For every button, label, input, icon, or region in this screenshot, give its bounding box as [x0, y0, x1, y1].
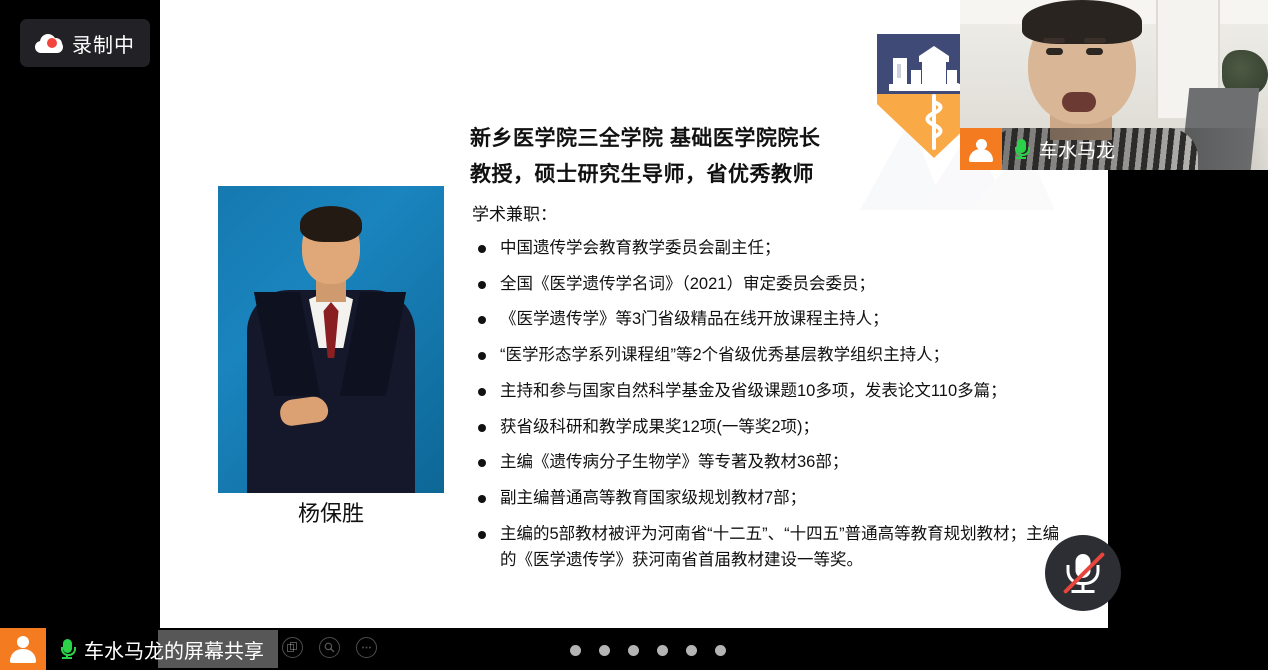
page-indicator-dots[interactable]	[570, 645, 726, 656]
participant-video-thumbnail[interactable]: 车水马龙	[960, 0, 1268, 170]
screen-share-label: 车水马龙的屏幕共享	[84, 635, 274, 664]
credential-list: 中国遗传学会教育教学委员会副主任； 全国《医学遗传学名词》（2021）审定委员会…	[470, 235, 1070, 574]
participant-name: 车水马龙	[1039, 136, 1115, 163]
slide-subheader: 学术兼职：	[472, 200, 1070, 225]
page-dot[interactable]	[628, 645, 639, 656]
cloud-record-icon	[35, 34, 63, 53]
video-name-label: 车水马龙	[960, 128, 1268, 170]
list-item: 中国遗传学会教育教学委员会副主任；	[470, 235, 1070, 262]
recording-label: 录制中	[72, 29, 135, 58]
page-dot[interactable]	[599, 645, 610, 656]
list-item: 全国《医学遗传学名词》（2021）审定委员会委员；	[470, 271, 1070, 298]
page-dot[interactable]	[570, 645, 581, 656]
more-options-icon[interactable]	[356, 637, 377, 658]
list-item: 获省级科研和教学成果奖12项(一等奖2项)；	[470, 414, 1070, 441]
list-item: “医学形态学系列课程组”等2个省级优秀基层教学组织主持人；	[470, 342, 1070, 369]
portrait-photo	[218, 186, 444, 493]
person-name-caption: 杨保胜	[218, 496, 444, 528]
list-item: 主持和参与国家自然科学基金及省级课题10多项，发表论文110多篇；	[470, 378, 1070, 405]
slide-text-column: 新乡医学院三全学院 基础医学院院长 教授，硕士研究生导师，省优秀教师 学术兼职：…	[470, 128, 1070, 583]
page-dot[interactable]	[715, 645, 726, 656]
list-item: 主编的5部教材被评为河南省“十二五”、“十四五”普通高等教育规划教材；主编的《医…	[470, 521, 1070, 574]
screen-share-indicator[interactable]: 车水马龙的屏幕共享	[0, 628, 274, 670]
page-dot[interactable]	[657, 645, 668, 656]
magnifier-glyph	[324, 642, 335, 653]
zoom-magnifier-icon[interactable]	[319, 637, 340, 658]
more-dots-glyph	[361, 642, 372, 653]
avatar-icon	[960, 128, 1002, 170]
microphone-active-icon	[60, 639, 75, 659]
avatar-icon	[0, 628, 46, 670]
bottom-toolbar: 车水马龙的屏幕共享	[0, 628, 1268, 670]
microphone-active-icon	[1014, 139, 1029, 159]
list-item: 《医学遗传学》等3门省级精品在线开放课程主持人；	[470, 306, 1070, 333]
annotate-copy-icon[interactable]	[282, 637, 303, 658]
recording-badge: 录制中	[20, 19, 150, 67]
mute-microphone-button[interactable]	[1045, 535, 1121, 611]
list-item: 副主编普通高等教育国家级规划教材7部；	[470, 485, 1070, 512]
copy-glyph	[287, 642, 298, 653]
page-dot[interactable]	[686, 645, 697, 656]
list-item: 主编《遗传病分子生物学》等专著及教材36部；	[470, 449, 1070, 476]
